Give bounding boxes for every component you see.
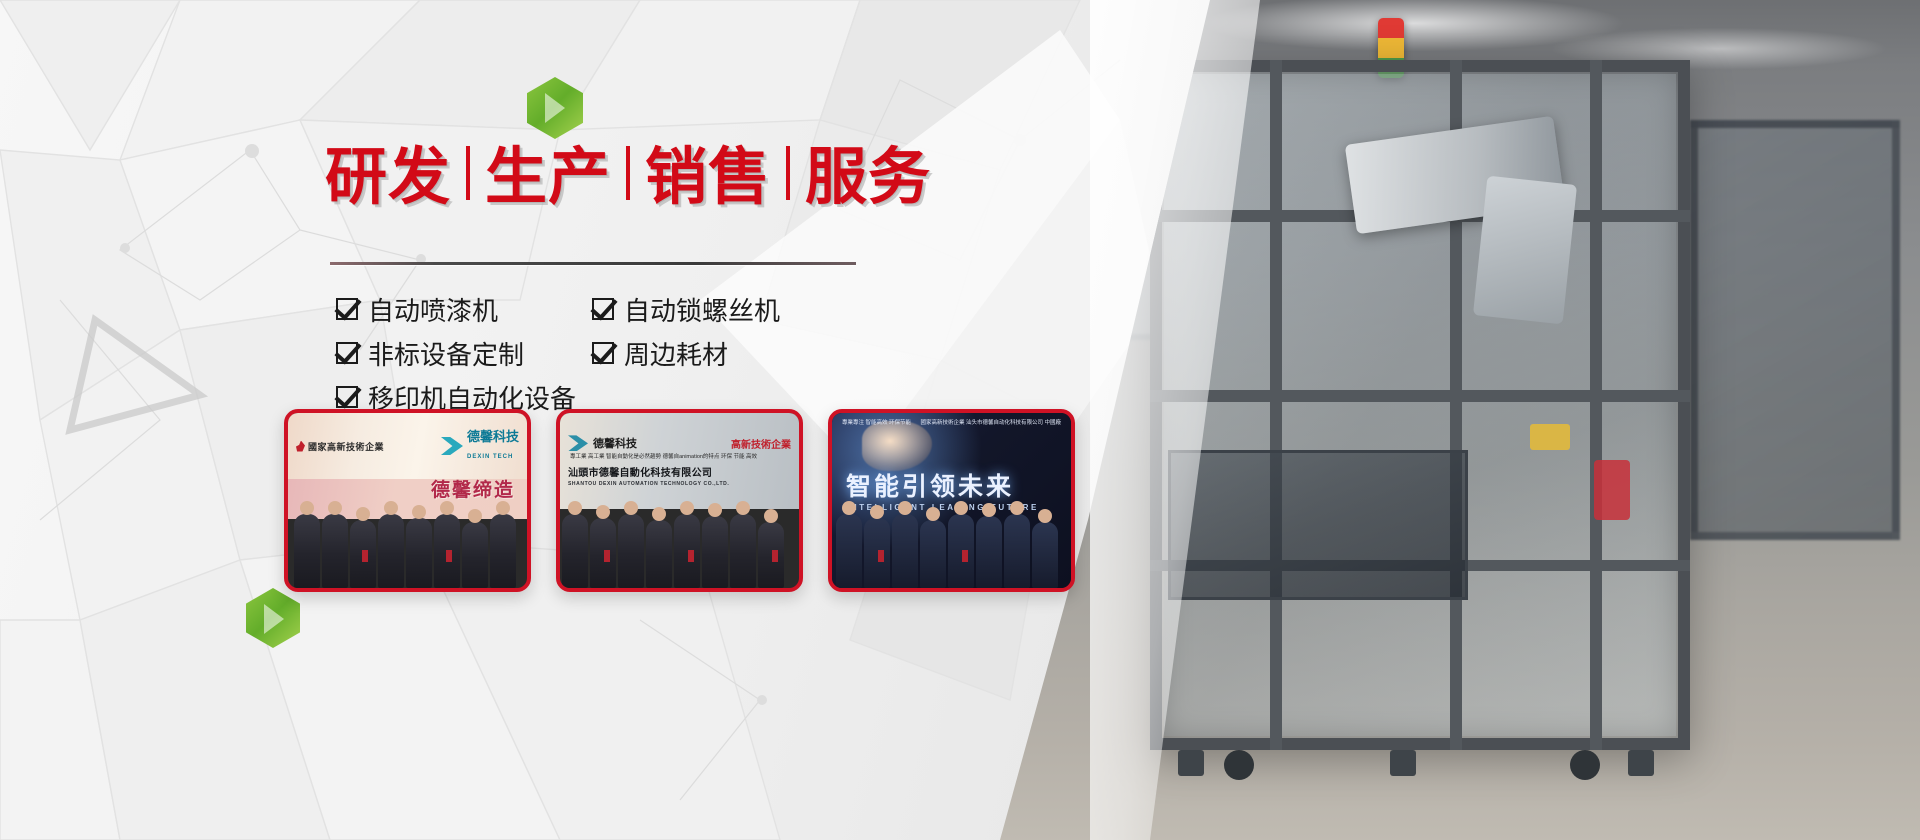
arrow-glyph: [264, 604, 284, 634]
machine-foot: [1178, 750, 1204, 776]
factory-photo-region: [1000, 0, 1920, 840]
feature-label: 自动喷漆机: [368, 291, 498, 328]
person: [562, 514, 588, 588]
photo1-brand-en: DEXIN TECH: [467, 454, 513, 460]
person: [730, 514, 756, 588]
photo3-tag-right: 國家高新技術企業 汕头市德馨自动化科技有限公司 中國廠: [920, 419, 1061, 428]
lanyard: [772, 550, 778, 562]
feature-item-1: 自动喷漆机: [336, 287, 592, 331]
photo2-lines: 專工業 高工業 智能自動化是必然趨勢 德馨自animation的特点 环保 节能…: [568, 453, 757, 461]
feature-item-4: 周边耗材: [592, 331, 862, 375]
person: [646, 520, 672, 588]
person: [490, 514, 516, 588]
person: [702, 516, 728, 588]
feature-label: 非标设备定制: [368, 335, 524, 372]
tower-light-red: [1378, 18, 1404, 38]
headline-separator: [786, 146, 790, 200]
photo2-company-cn: 汕頭市德馨自動化科技有限公司: [568, 464, 712, 479]
person: [948, 514, 974, 588]
headline-word-2: 生产: [485, 126, 611, 216]
feature-list: 自动喷漆机 自动锁螺丝机 非标设备定制 周边耗材 移印机自动化设备: [336, 287, 876, 419]
feature-label: 自动锁螺丝机: [624, 291, 780, 328]
photo-strip: 國家高新技術企業 德馨科技 DEXIN TECH 德馨缔造: [284, 409, 1075, 592]
machine-foot: [1628, 750, 1654, 776]
checkbox-checked-icon: [592, 298, 614, 320]
person: [590, 518, 616, 588]
lanyard: [604, 550, 610, 562]
photo1-brand-cn: 德馨科技: [467, 429, 519, 444]
feature-item-3: 非标设备定制: [336, 331, 592, 375]
checkbox-checked-icon: [336, 298, 358, 320]
dexin-x-icon: [568, 435, 588, 451]
automation-machine: [1150, 60, 1690, 750]
person: [836, 514, 862, 588]
photo1-people: [288, 496, 527, 588]
photo3-people: [832, 496, 1071, 588]
checkbox-checked-icon: [336, 386, 358, 408]
banner-content: 研发 生产 销售 服务 自动喷漆机 自动锁螺丝机 非标设备定制: [0, 0, 1100, 840]
page-title: 研发 生产 销售 服务: [325, 126, 931, 216]
photo1-header: 國家高新技術企業 德馨科技 DEXIN TECH: [288, 413, 527, 479]
headline-word-3: 销售: [645, 126, 771, 216]
lanyard: [446, 550, 452, 562]
machine-caster: [1224, 750, 1254, 780]
feature-label: 周边耗材: [624, 335, 728, 372]
person: [378, 514, 404, 588]
promo-banner: 研发 生产 销售 服务 自动喷漆机 自动锁螺丝机 非标设备定制: [0, 0, 1920, 840]
feature-item-2: 自动锁螺丝机: [592, 287, 862, 331]
photo2-people: [560, 496, 799, 588]
dexin-x-icon: [441, 437, 463, 455]
title-divider: [330, 262, 856, 265]
photo-exhibition-booth[interactable]: 國家高新技術企業 德馨科技 DEXIN TECH 德馨缔造: [284, 409, 531, 592]
arrow-glyph: [545, 93, 565, 123]
lanyard: [362, 550, 368, 562]
person: [618, 514, 644, 588]
machine-yellow-part: [1530, 424, 1570, 450]
person: [976, 516, 1002, 588]
photo2-brand-cn: 德馨科技: [593, 435, 637, 451]
machine-beam: [1590, 60, 1602, 750]
photo1-brand: 德馨科技 DEXIN TECH: [467, 429, 519, 463]
person: [322, 514, 348, 588]
photo1-badge-wrap: 國家高新技術企業: [296, 440, 384, 453]
control-panel: [1168, 450, 1468, 600]
headline-separator: [626, 146, 630, 200]
machine-beam: [1270, 60, 1282, 750]
photo-intelligent-future[interactable]: 專業專注 智能高效 环保节能 國家高新技術企業 汕头市德馨自动化科技有限公司 中…: [828, 409, 1075, 592]
person: [462, 522, 488, 588]
person: [920, 520, 946, 588]
person: [1032, 522, 1058, 588]
machine-beam: [1150, 390, 1690, 402]
robot-head: [1473, 176, 1577, 325]
photo1-logo: 德馨科技 DEXIN TECH: [441, 429, 519, 463]
photo2-award: 高新技術企業: [731, 436, 791, 451]
person: [674, 514, 700, 588]
lanyard: [962, 550, 968, 562]
photo2-company-en: SHANTOU DEXIN AUTOMATION TECHNOLOGY CO.,…: [568, 481, 729, 487]
photo1-badge: 國家高新技術企業: [308, 440, 384, 453]
hexagon-arrow-bottom-icon: [246, 588, 300, 648]
headline-word-4: 服务: [805, 126, 931, 216]
person: [406, 518, 432, 588]
person: [758, 522, 784, 588]
checkbox-checked-icon: [592, 342, 614, 364]
photo-company-wall[interactable]: 德馨科技 高新技術企業 專工業 高工業 智能自動化是必然趨勢 德馨自animat…: [556, 409, 803, 592]
lanyard: [878, 550, 884, 562]
photo2-logo-row: 德馨科技 高新技術企業: [568, 435, 791, 451]
photo3-tags: 專業專注 智能高效 环保节能 國家高新技術企業 汕头市德馨自动化科技有限公司 中…: [842, 419, 1061, 428]
checkbox-checked-icon: [336, 342, 358, 364]
lanyard: [688, 550, 694, 562]
person: [864, 518, 890, 588]
person: [892, 514, 918, 588]
machine-red-part: [1594, 460, 1630, 520]
headline-separator: [466, 146, 470, 200]
machine-caster: [1570, 750, 1600, 780]
tower-light-amber: [1378, 38, 1404, 58]
person: [1004, 514, 1030, 588]
photo2-header: 德馨科技 高新技術企業 專工業 高工業 智能自動化是必然趨勢 德馨自animat…: [560, 413, 799, 509]
machine-foot: [1390, 750, 1416, 776]
background-shelf: [1690, 120, 1900, 540]
headline-word-1: 研发: [325, 126, 451, 216]
person: [294, 514, 320, 588]
flame-icon: [296, 441, 305, 452]
photo3-tag-left: 專業專注 智能高效 环保节能: [842, 419, 911, 428]
